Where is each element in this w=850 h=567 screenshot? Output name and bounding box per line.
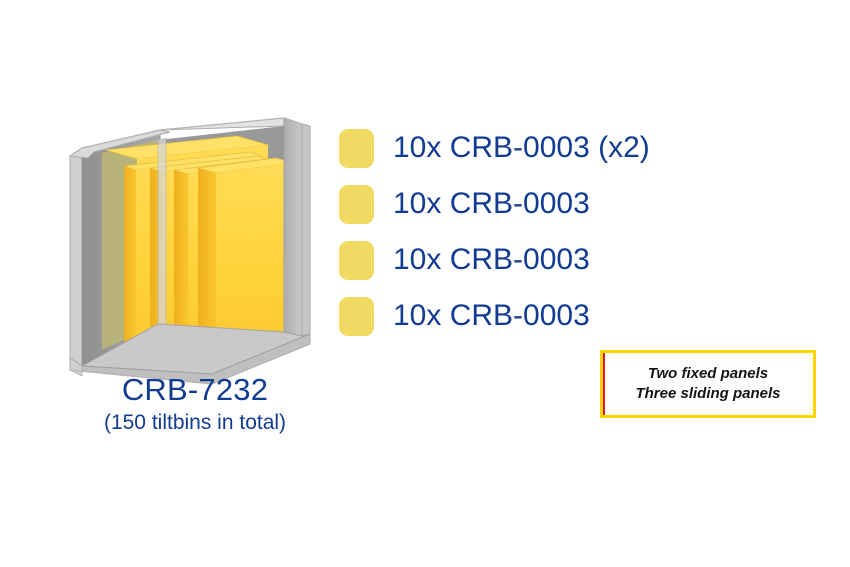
legend-item-label: 10x CRB-0003 (x2)	[393, 132, 650, 164]
legend-item-label: 10x CRB-0003	[393, 244, 590, 276]
legend-item: 10x CRB-0003	[339, 184, 650, 224]
panel-2-side	[124, 166, 136, 352]
note-line-1: Two fixed panels	[648, 364, 768, 384]
cabinet-front-left-post	[158, 138, 166, 326]
model-caption: CRB-7232 (150 tiltbins in total)	[40, 372, 350, 437]
yellow-swatch-icon	[339, 241, 374, 280]
note-line-2: Three sliding panels	[635, 384, 780, 404]
note-box-content: Two fixed panels Three sliding panels	[603, 353, 813, 415]
legend-item: 10x CRB-0003 (x2)	[339, 128, 650, 168]
yellow-swatch-icon	[339, 129, 374, 168]
cabinet-right-outer-edge	[302, 124, 310, 336]
cabinet-right-outer-wall	[284, 118, 302, 336]
model-subtitle: (150 tiltbins in total)	[40, 409, 350, 437]
legend-item-label: 10x CRB-0003	[393, 300, 590, 332]
model-code: CRB-7232	[40, 372, 350, 408]
yellow-swatch-icon	[339, 297, 374, 336]
product-illustration	[62, 118, 328, 376]
cabinet-left-outer-wall	[70, 148, 82, 366]
note-box: Two fixed panels Three sliding panels	[600, 350, 816, 418]
cabinet-3d-drawing	[62, 118, 328, 376]
parts-legend: 10x CRB-0003 (x2) 10x CRB-0003 10x CRB-0…	[339, 128, 650, 336]
legend-item: 10x CRB-0003	[339, 296, 650, 336]
yellow-swatch-icon	[339, 185, 374, 224]
legend-item: 10x CRB-0003	[339, 240, 650, 280]
legend-item-label: 10x CRB-0003	[393, 188, 590, 220]
